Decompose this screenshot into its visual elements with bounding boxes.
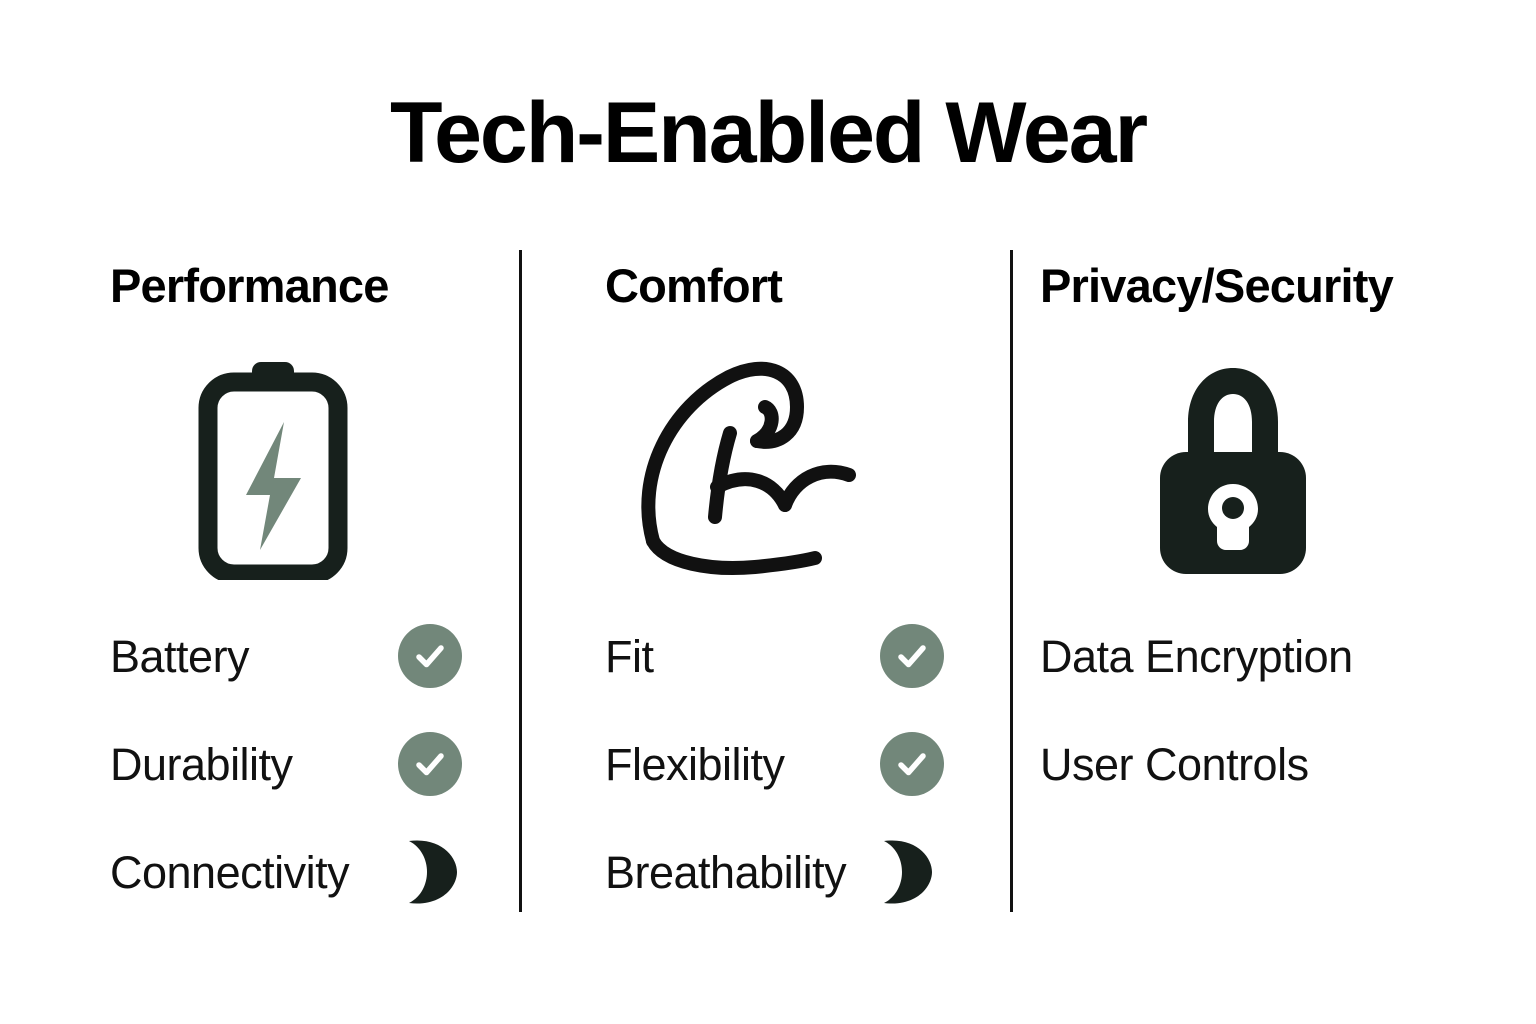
status-badge — [398, 732, 462, 796]
list-item[interactable]: Breathability — [605, 818, 980, 926]
page-title: Tech-Enabled Wear — [0, 88, 1536, 178]
columns-container: Performance Battery — [0, 250, 1536, 915]
feature-label: Durability — [110, 742, 293, 787]
status-badge — [398, 624, 462, 688]
feature-label: Flexibility — [605, 742, 785, 787]
hero-icon-comfort — [605, 345, 1000, 595]
check-circle-icon — [398, 624, 462, 688]
status-badge — [873, 839, 935, 905]
check-circle-icon — [880, 624, 944, 688]
list-item[interactable]: User Controls — [1040, 710, 1440, 818]
feature-label: Battery — [110, 634, 249, 679]
battery-bolt-icon — [198, 360, 348, 580]
feature-label: Fit — [605, 634, 654, 679]
column-performance: Performance Battery — [110, 250, 485, 915]
feature-label: User Controls — [1040, 742, 1309, 787]
half-moon-icon — [873, 839, 935, 905]
check-circle-icon — [880, 732, 944, 796]
list-item[interactable]: Data Encryption — [1040, 602, 1440, 710]
column-header-performance: Performance — [110, 258, 389, 313]
hero-icon-privacy-security — [1040, 345, 1536, 595]
column-privacy-security: Privacy/Security Data Encryption — [1040, 250, 1440, 915]
column-header-privacy-security: Privacy/Security — [1040, 258, 1393, 313]
list-item[interactable]: Flexibility — [605, 710, 980, 818]
feature-list-performance: Battery Durability — [110, 602, 485, 926]
list-item[interactable]: Connectivity — [110, 818, 485, 926]
feature-label: Connectivity — [110, 850, 349, 895]
status-badge — [880, 732, 944, 796]
feature-label: Data Encryption — [1040, 634, 1353, 679]
half-moon-icon — [398, 839, 460, 905]
infographic-canvas: Tech-Enabled Wear Performance Battery — [0, 0, 1536, 1024]
status-badge — [398, 839, 460, 905]
padlock-icon — [1148, 360, 1318, 580]
feature-list-comfort: Fit Flexibility — [605, 602, 980, 926]
list-item[interactable]: Battery — [110, 602, 485, 710]
column-header-comfort: Comfort — [605, 258, 782, 313]
list-item[interactable]: Fit — [605, 602, 980, 710]
feature-label: Breathability — [605, 850, 846, 895]
flexed-bicep-icon — [625, 355, 875, 585]
column-comfort: Comfort — [605, 250, 980, 915]
list-item[interactable]: Durability — [110, 710, 485, 818]
hero-icon-performance — [110, 345, 573, 595]
status-badge — [880, 624, 944, 688]
check-circle-icon — [398, 732, 462, 796]
feature-list-privacy-security: Data Encryption User Controls — [1040, 602, 1440, 818]
